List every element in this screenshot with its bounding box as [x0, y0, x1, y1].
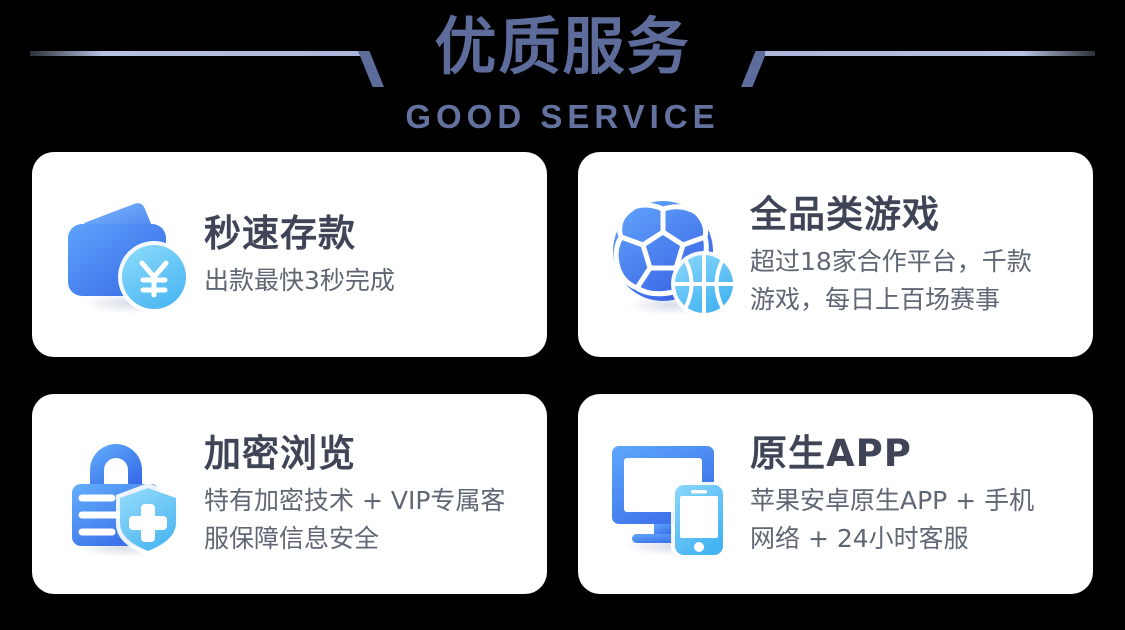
card-desc-line: 苹果安卓原生APP + 手机 [750, 482, 1080, 520]
card-desc-line: 服保障信息安全 [204, 520, 534, 558]
feature-card-grid: 秒速存款 出款最快3秒完成 [32, 152, 1093, 594]
card-title: 原生APP [750, 430, 1087, 478]
feature-card-native-app[interactable]: 原生APP 苹果安卓原生APP + 手机 网络 + 24小时客服 [578, 394, 1093, 594]
page-title: 优质服务 [0, 8, 1125, 86]
card-title: 全品类游戏 [750, 191, 1087, 239]
card-desc-line: 出款最快3秒完成 [204, 262, 541, 300]
page-header: 优质服务 GOOD SERVICE [0, 0, 1125, 150]
card-desc-line: 网络 + 24小时客服 [750, 520, 1080, 558]
feature-card-deposit[interactable]: 秒速存款 出款最快3秒完成 [32, 152, 547, 357]
feature-card-text: 全品类游戏 超过18家合作平台，千款 游戏，每日上百场赛事 [740, 191, 1087, 319]
card-title: 秒速存款 [204, 210, 541, 258]
soccer-basketball-icon [604, 187, 740, 323]
feature-card-text: 加密浏览 特有加密技术 + VIP专属客 服保障信息安全 [194, 430, 541, 558]
feature-card-games[interactable]: 全品类游戏 超过18家合作平台，千款 游戏，每日上百场赛事 [578, 152, 1093, 357]
page-subtitle: GOOD SERVICE [0, 98, 1125, 136]
card-desc-line: 游戏，每日上百场赛事 [750, 281, 1080, 319]
feature-card-encryption[interactable]: 加密浏览 特有加密技术 + VIP专属客 服保障信息安全 [32, 394, 547, 594]
wallet-yen-icon [58, 187, 194, 323]
lock-shield-icon [58, 426, 194, 562]
feature-card-text: 原生APP 苹果安卓原生APP + 手机 网络 + 24小时客服 [740, 430, 1087, 558]
card-desc-line: 超过18家合作平台，千款 [750, 243, 1080, 281]
monitor-phone-icon [604, 426, 740, 562]
feature-card-text: 秒速存款 出款最快3秒完成 [194, 210, 541, 300]
card-title: 加密浏览 [204, 430, 541, 478]
card-desc-line: 特有加密技术 + VIP专属客 [204, 482, 534, 520]
